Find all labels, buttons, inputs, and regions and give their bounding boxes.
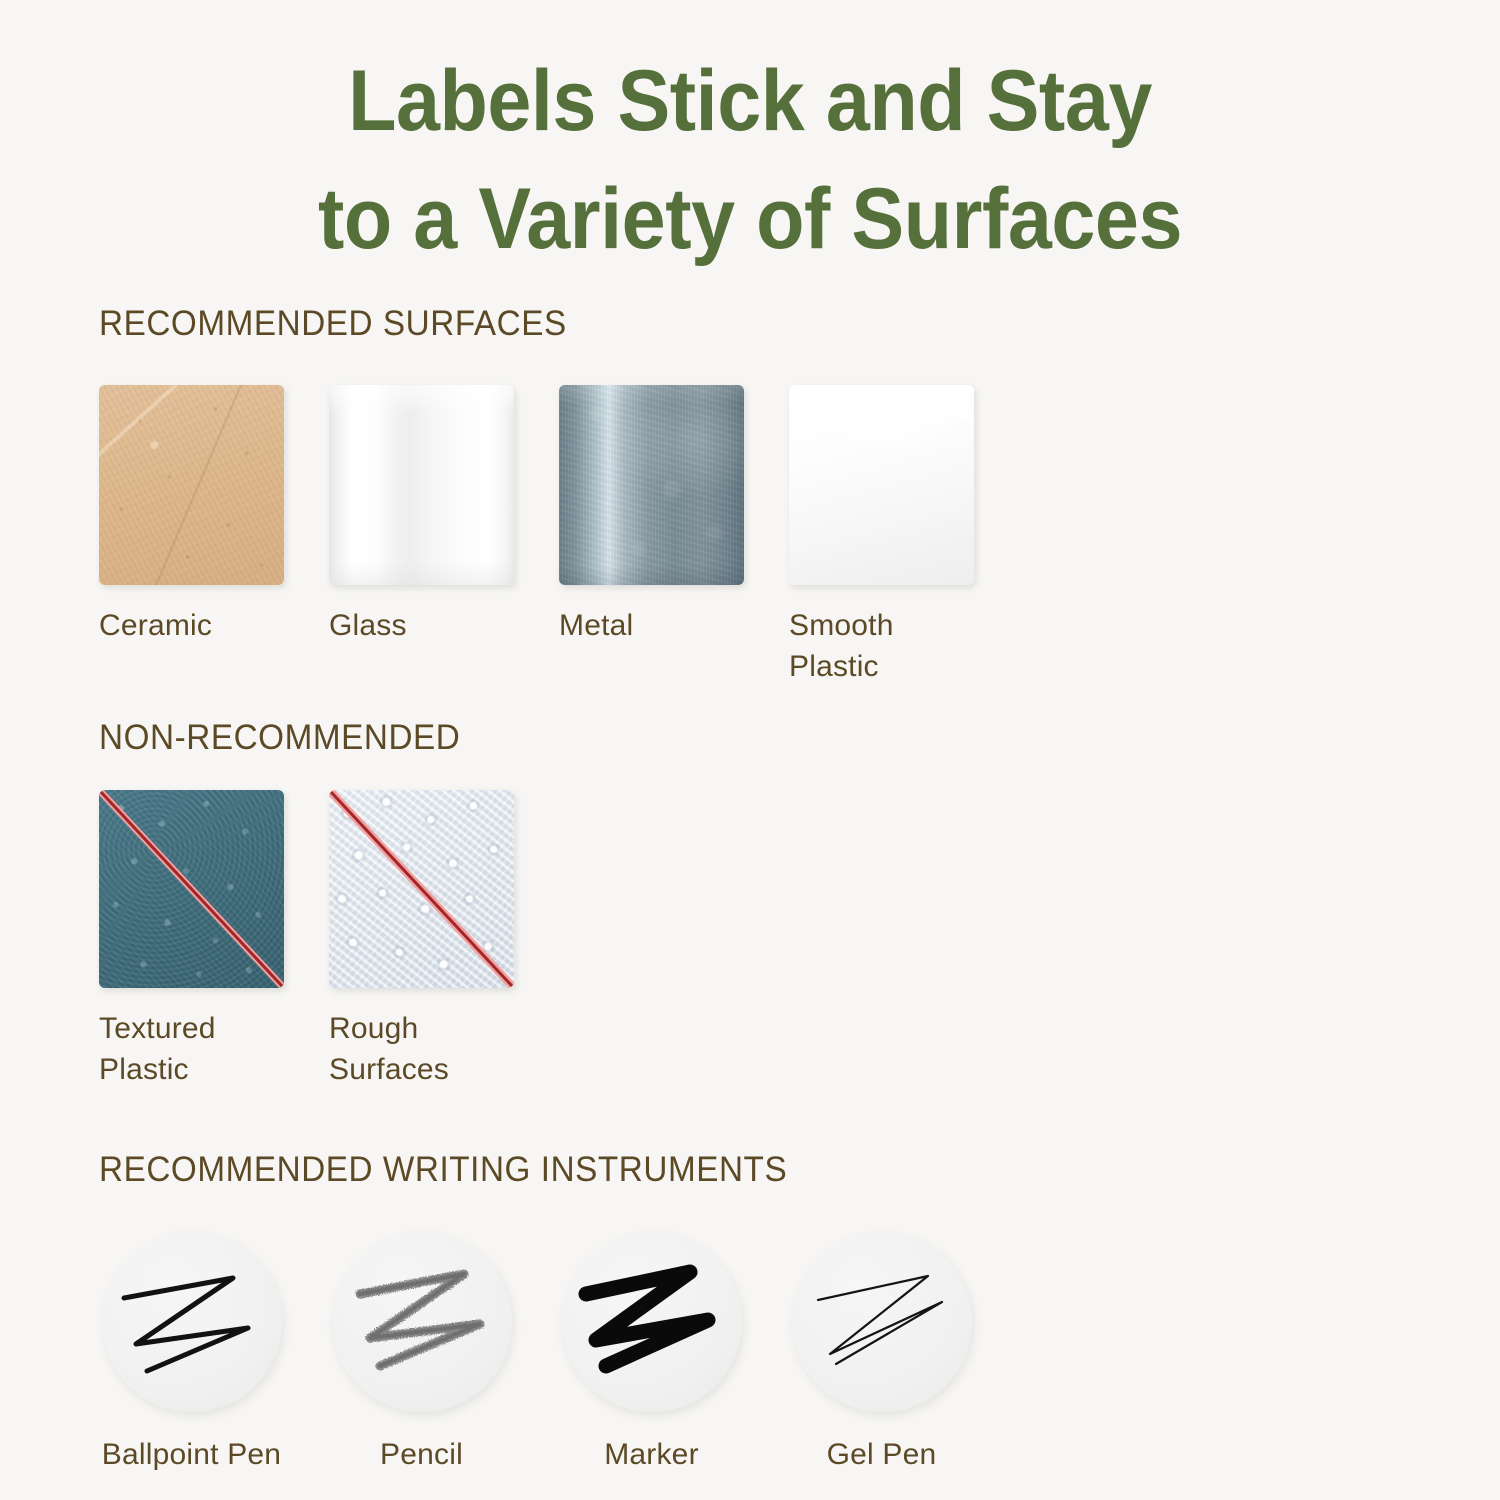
red-strikethrough-icon (99, 790, 284, 988)
title-line-2: to a Variety of Surfaces (60, 160, 1440, 278)
ceramic-swatch (99, 385, 284, 585)
textured-plastic-swatch (99, 790, 284, 988)
section-heading-writing-instruments: RECOMMENDED WRITING INSTRUMENTS (99, 1150, 787, 1190)
marker-circle (562, 1232, 742, 1412)
rough-surfaces-swatch (329, 790, 514, 988)
surface-label-rough-surfaces: Rough Surfaces (329, 1008, 479, 1090)
writing-item-ballpoint-pen: Ballpoint Pen (99, 1232, 284, 1475)
red-strikethrough-icon (329, 790, 514, 988)
smooth-plastic-swatch (789, 385, 974, 585)
writing-item-gel-pen: Gel Pen (789, 1232, 974, 1475)
surface-item-metal: Metal (559, 385, 744, 687)
surface-item-rough-surfaces: Rough Surfaces (329, 790, 514, 1090)
gel-pen-circle (792, 1232, 972, 1412)
pencil-scribble-icon (332, 1232, 512, 1412)
non-recommended-surfaces-row: Textured Plastic Rough Surfaces (99, 790, 559, 1090)
writing-label-marker: Marker (559, 1434, 744, 1475)
surface-item-glass: Glass (329, 385, 514, 687)
surface-label-smooth-plastic: Smooth Plastic (789, 605, 929, 687)
recommended-surfaces-row: Ceramic Glass Metal Smooth Plastic (99, 385, 1019, 687)
page-title: Labels Stick and Stay to a Variety of Su… (0, 42, 1500, 278)
writing-item-pencil: Pencil (329, 1232, 514, 1475)
section-heading-recommended-surfaces: RECOMMENDED SURFACES (99, 304, 567, 344)
metal-swatch (559, 385, 744, 585)
title-line-1: Labels Stick and Stay (60, 42, 1440, 160)
glass-swatch (329, 385, 514, 585)
marker-scribble-icon (562, 1232, 742, 1412)
gelpen-scribble-icon (792, 1232, 972, 1412)
surface-item-ceramic: Ceramic (99, 385, 284, 687)
surface-label-metal: Metal (559, 605, 754, 646)
writing-label-ballpoint-pen: Ballpoint Pen (99, 1434, 284, 1475)
writing-label-pencil: Pencil (329, 1434, 514, 1475)
pencil-circle (332, 1232, 512, 1412)
surface-item-smooth-plastic: Smooth Plastic (789, 385, 974, 687)
surface-label-ceramic: Ceramic (99, 605, 294, 646)
section-heading-non-recommended: NON-RECOMMENDED (99, 718, 460, 758)
writing-item-marker: Marker (559, 1232, 744, 1475)
writing-label-gel-pen: Gel Pen (789, 1434, 974, 1475)
infographic-page: Labels Stick and Stay to a Variety of Su… (0, 0, 1500, 1500)
ballpoint-pen-circle (102, 1232, 282, 1412)
surface-item-textured-plastic: Textured Plastic (99, 790, 284, 1090)
surface-label-glass: Glass (329, 605, 524, 646)
ballpoint-scribble-icon (102, 1232, 282, 1412)
surface-label-textured-plastic: Textured Plastic (99, 1008, 249, 1090)
writing-instruments-row: Ballpoint Pen Pencil (99, 1232, 1019, 1475)
